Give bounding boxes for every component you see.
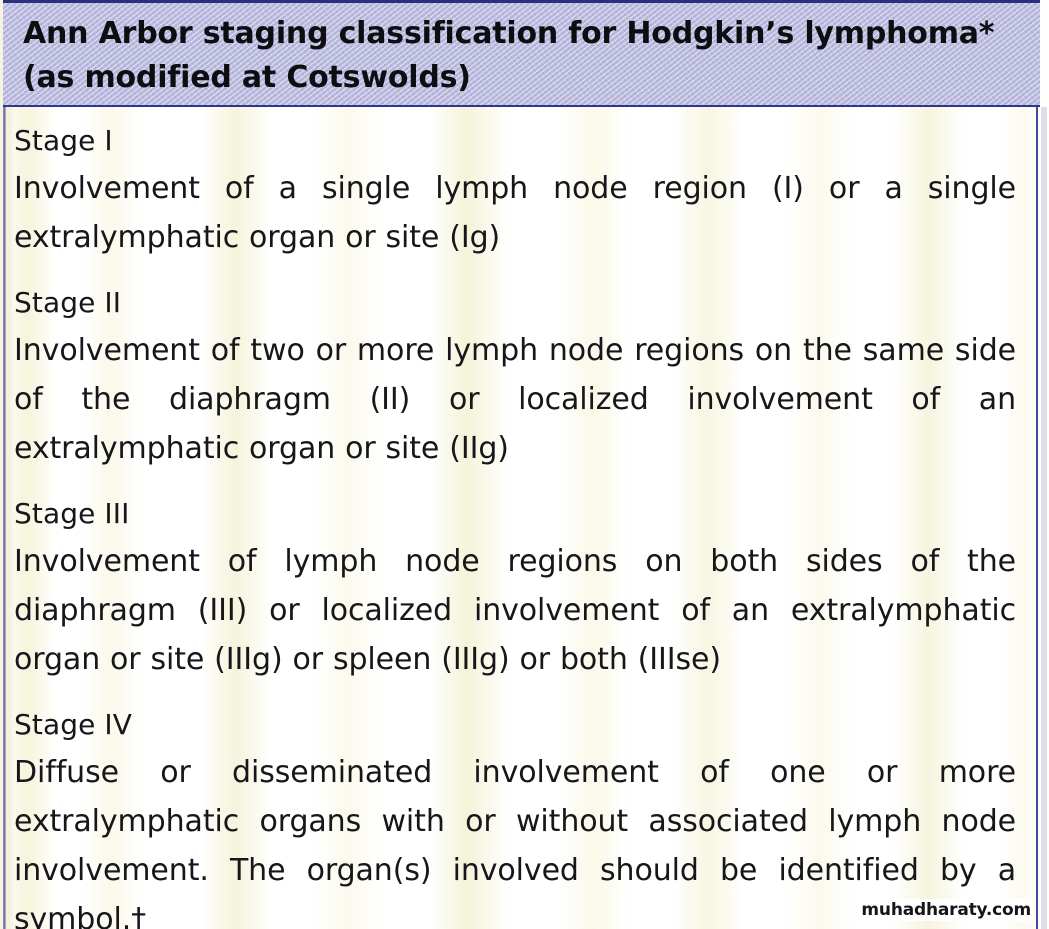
stage-block-1: Stage I Involvement of a single lymph no… (14, 118, 1016, 262)
stage-heading: Stage I (14, 118, 1016, 164)
table-title-line-2: (as modified at Cotswolds) (23, 56, 1040, 100)
stage-heading: Stage II (14, 280, 1016, 326)
right-frame-border (1036, 107, 1038, 929)
stage-block-2: Stage II Involvement of two or more lymp… (14, 280, 1016, 473)
right-frame-border-shadow (1041, 107, 1047, 929)
table-title-line-1: Ann Arbor staging classification for Hod… (23, 12, 1040, 56)
table-header-band: Ann Arbor staging classification for Hod… (3, 0, 1040, 107)
stage-block-4: Stage IV Diffuse or disseminated involve… (14, 702, 1016, 929)
stage-heading: Stage IV (14, 702, 1016, 748)
stage-description: Involvement of a single lymph node regio… (14, 164, 1016, 262)
stage-block-3: Stage III Involvement of lymph node regi… (14, 491, 1016, 684)
table-header-inner: Ann Arbor staging classification for Hod… (3, 3, 1040, 100)
stage-description: Involvement of two or more lymph node re… (14, 326, 1016, 473)
stage-list: Stage I Involvement of a single lymph no… (14, 118, 1016, 929)
stage-description: Involvement of lymph node regions on bot… (14, 537, 1016, 684)
site-watermark: muhadharaty.com (859, 899, 1033, 921)
scanned-table-page: Ann Arbor staging classification for Hod… (0, 0, 1049, 929)
left-frame-border (3, 107, 6, 929)
stage-heading: Stage III (14, 491, 1016, 537)
